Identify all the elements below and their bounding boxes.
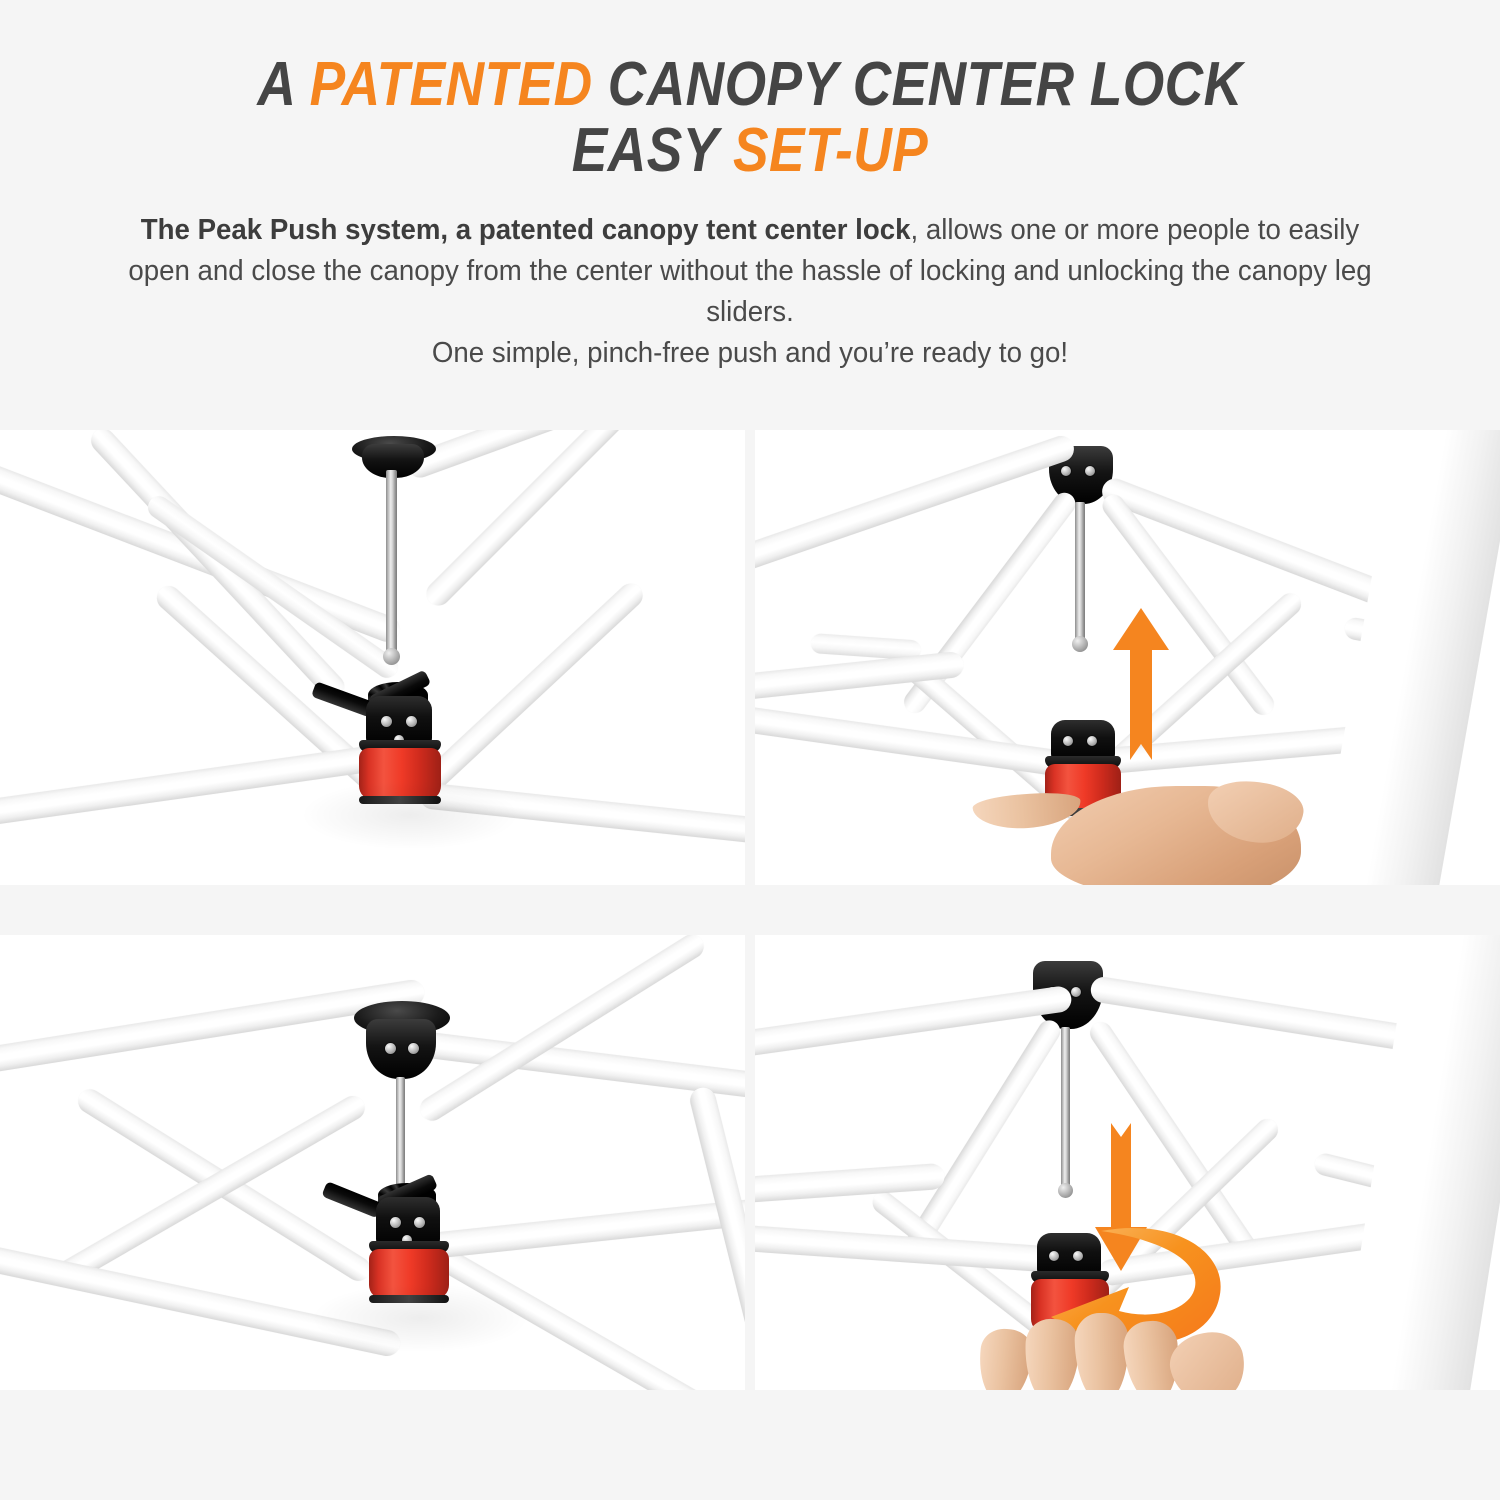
frame-tube xyxy=(755,1163,945,1207)
center-rod xyxy=(1075,502,1085,642)
frame-tube xyxy=(418,1237,724,1390)
screw-icon xyxy=(1087,736,1097,746)
headline-part: CANOPY CENTER LOCK xyxy=(593,50,1243,119)
page-title: A PATENTED CANOPY CENTER LOCK EASY SET-U… xyxy=(105,52,1395,184)
frame-tube xyxy=(419,782,745,845)
photo-hand-pushing-lock-up xyxy=(755,430,1500,885)
photo-canopy-frame-locked xyxy=(0,935,745,1390)
headline-part: A xyxy=(257,50,309,119)
frame-tube xyxy=(429,1195,745,1258)
frame-tube xyxy=(86,430,349,703)
hand-thumb xyxy=(1165,1326,1252,1390)
description-lead: The Peak Push system, a patented canopy … xyxy=(141,214,911,246)
description-closing: One simple, pinch-free push and you’re r… xyxy=(432,337,1068,369)
frame-tube xyxy=(144,492,402,682)
hand-finger xyxy=(1074,1313,1130,1390)
screw-icon xyxy=(1085,466,1095,476)
center-lock xyxy=(359,748,441,800)
center-rod-tip xyxy=(1058,1183,1073,1198)
frame-tube xyxy=(0,742,398,828)
hand-finger xyxy=(1024,1318,1081,1390)
screw-icon xyxy=(406,716,417,727)
frame-tube xyxy=(755,702,1093,781)
center-rod-tip xyxy=(383,648,400,665)
hub-arm xyxy=(321,1181,383,1218)
headline-part: EASY xyxy=(572,116,733,185)
center-rod xyxy=(396,1077,405,1185)
screw-icon xyxy=(390,1217,401,1228)
screw-icon xyxy=(414,1217,425,1228)
screw-icon xyxy=(1071,987,1081,997)
canopy-leg-pole xyxy=(1306,430,1500,885)
header: A PATENTED CANOPY CENTER LOCK EASY SET-U… xyxy=(0,0,1500,374)
frame-tube xyxy=(0,978,426,1079)
headline-line-2: EASY SET-UP xyxy=(105,118,1395,184)
frame-tube xyxy=(412,579,648,801)
headline-line-1: A PATENTED CANOPY CENTER LOCK xyxy=(105,52,1395,118)
frame-tube xyxy=(687,1085,745,1382)
center-lock xyxy=(369,1249,449,1299)
headline-accent-setup: SET-UP xyxy=(733,116,928,185)
screw-icon xyxy=(408,1043,419,1054)
photo-panel-grid xyxy=(0,430,1500,1450)
hand-open-palm xyxy=(971,780,1301,885)
headline-accent-patented: PATENTED xyxy=(310,50,593,119)
screw-icon xyxy=(1061,466,1071,476)
screw-icon xyxy=(381,716,392,727)
panel-bottom-right xyxy=(755,935,1500,1390)
description-text: The Peak Push system, a patented canopy … xyxy=(23,210,1478,374)
panel-top-right xyxy=(755,430,1500,885)
center-rod-tip xyxy=(1072,636,1088,652)
photo-canopy-frame-extended xyxy=(0,430,745,885)
photo-fingers-twisting-lock-down xyxy=(755,935,1500,1390)
lock-ring xyxy=(359,796,441,804)
panel-bottom-left xyxy=(0,935,745,1390)
frame-tube xyxy=(416,935,709,1125)
lock-ring xyxy=(369,1295,449,1303)
peak-fitting xyxy=(366,1019,436,1079)
arrow-up-icon xyxy=(1113,608,1169,760)
screw-icon xyxy=(385,1043,396,1054)
hand-pinching xyxy=(979,1307,1249,1390)
infographic-page: A PATENTED CANOPY CENTER LOCK EASY SET-U… xyxy=(0,0,1500,1500)
center-rod xyxy=(1061,1027,1070,1189)
screw-icon xyxy=(1063,736,1073,746)
panel-top-left xyxy=(0,430,745,885)
center-rod xyxy=(386,470,397,655)
